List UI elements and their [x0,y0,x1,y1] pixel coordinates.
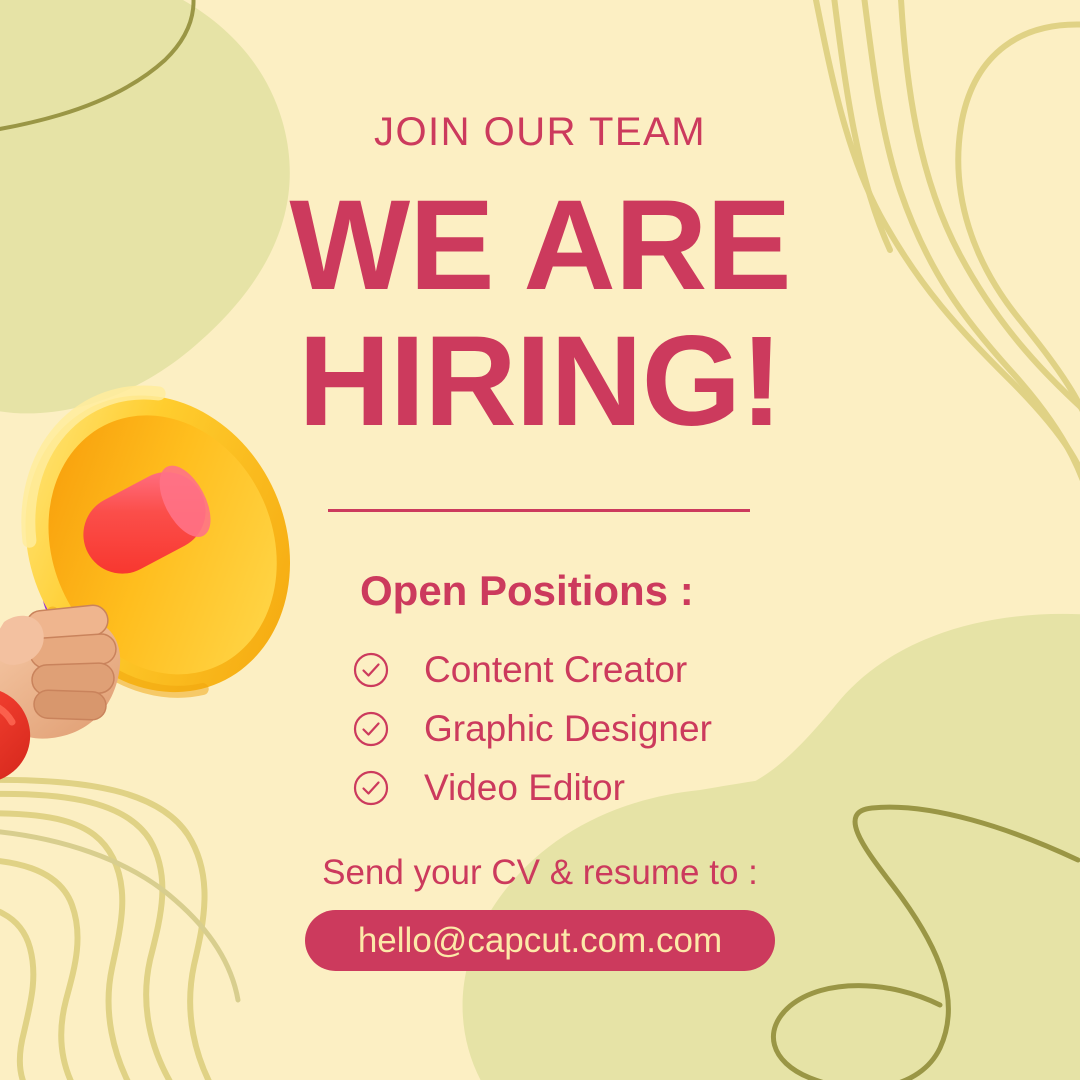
divider-rule [328,509,750,512]
eyebrow-text: JOIN OUR TEAM [0,112,1080,152]
headline-line-1: WE ARE [0,182,1080,310]
headline-line-2: HIRING! [0,318,1080,446]
check-circle-icon [352,651,390,689]
list-item: Graphic Designer [352,699,912,758]
cta-text: Send your CV & resume to : [0,855,1080,890]
position-label: Video Editor [424,769,625,806]
poster-content: JOIN OUR TEAM WE ARE HIRING! Open Positi… [0,0,1080,1080]
hiring-poster: JOIN OUR TEAM WE ARE HIRING! Open Positi… [0,0,1080,1080]
email-address: hello@capcut.com.com [358,923,722,958]
check-circle-icon [352,769,390,807]
check-circle-icon [352,710,390,748]
open-positions-title: Open Positions : [360,570,694,612]
position-label: Content Creator [424,651,687,688]
email-pill[interactable]: hello@capcut.com.com [305,910,775,971]
list-item: Content Creator [352,640,912,699]
position-label: Graphic Designer [424,710,712,747]
open-positions-list: Content Creator Graphic Designer Video E… [352,640,912,817]
list-item: Video Editor [352,758,912,817]
